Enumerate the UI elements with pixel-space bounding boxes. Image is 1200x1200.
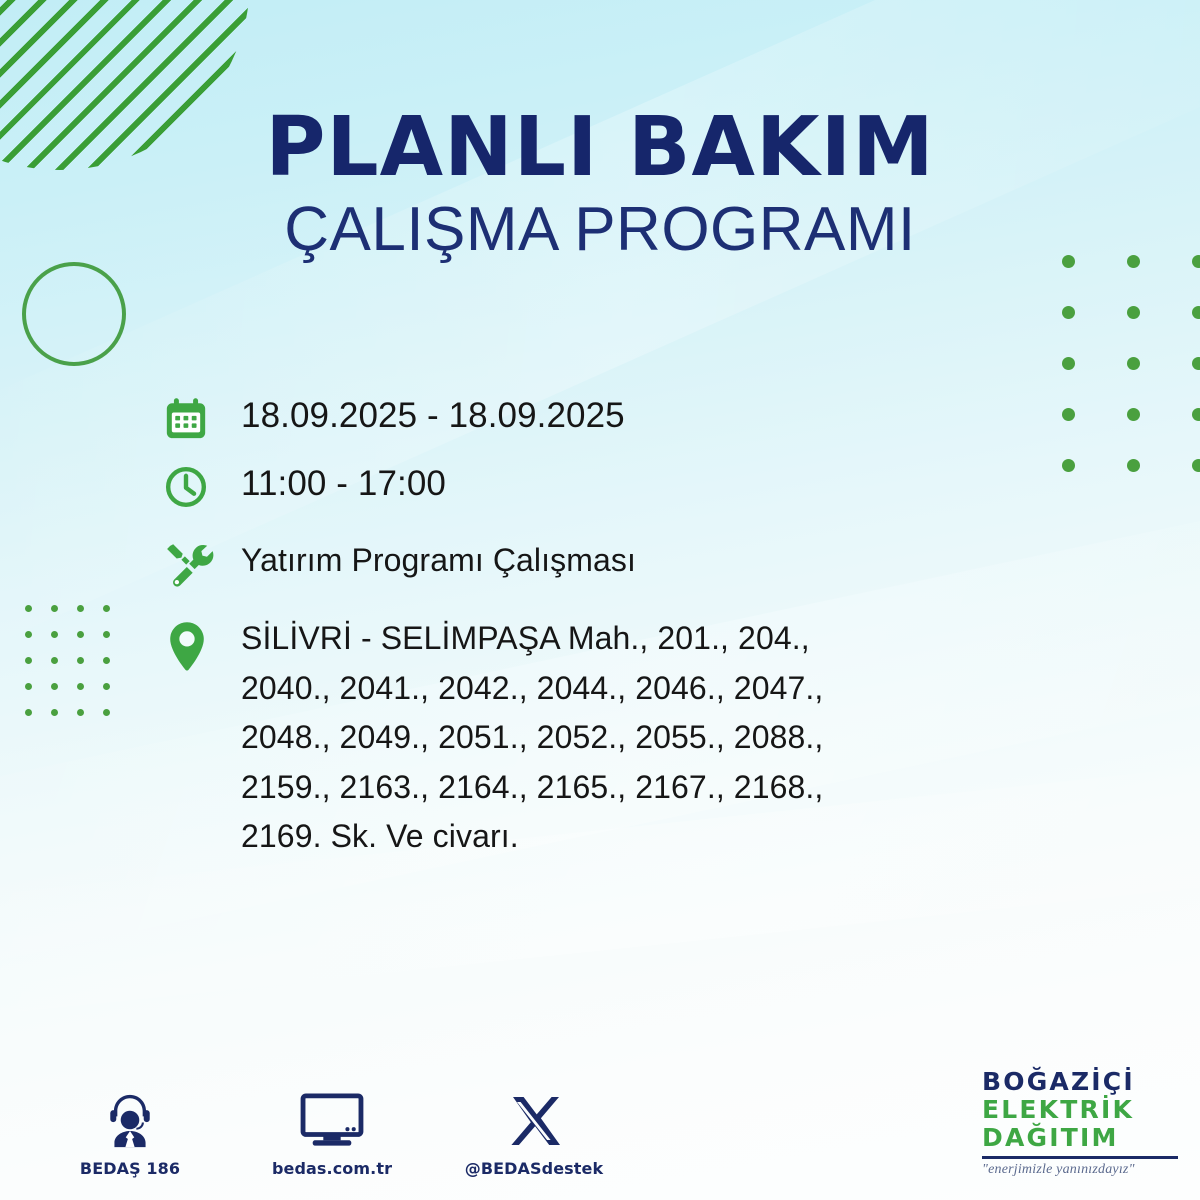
detail-row-time: 11:00 - 17:00 [163, 454, 1003, 518]
circle-outline-decoration [22, 262, 126, 366]
planned-maintenance-poster: PLANLI BAKIM ÇALIŞMA PROGRAMI [0, 0, 1200, 1200]
location-text: SİLİVRİ - SELİMPAŞA Mah., 201., 204., 20… [241, 614, 823, 862]
dot-grid-decoration-left [16, 596, 120, 726]
page-title: PLANLI BAKIM ÇALIŞMA PROGRAMI [0, 108, 1200, 265]
title-subtitle: ÇALIŞMA PROGRAMI [0, 196, 1200, 264]
brand-line-dagitim: DAĞITIM [982, 1124, 1182, 1152]
contact-website-label: bedas.com.tr [262, 1159, 402, 1178]
footer-contacts: BEDAŞ 186 bedas.com.tr @BEDASdestek [60, 1085, 604, 1178]
maintenance-details: 18.09.2025 - 18.09.2025 11:00 - 17:00 [163, 386, 1003, 866]
detail-row-date: 18.09.2025 - 18.09.2025 [163, 386, 1003, 450]
brand-divider [982, 1156, 1178, 1159]
headset-support-icon [60, 1085, 200, 1149]
time-range-text: 11:00 - 17:00 [241, 454, 446, 501]
title-main: PLANLI BAKIM [0, 108, 1200, 188]
monitor-icon [262, 1085, 402, 1149]
location-pin-icon [163, 614, 241, 682]
contact-website[interactable]: bedas.com.tr [262, 1085, 402, 1178]
x-social-icon [464, 1085, 604, 1149]
tools-icon [163, 532, 241, 596]
contact-phone[interactable]: BEDAŞ 186 [60, 1085, 200, 1178]
brand-tagline: "enerjimizle yanınızdayız" [982, 1162, 1182, 1178]
calendar-icon [163, 386, 241, 450]
contact-social[interactable]: @BEDASdestek [464, 1085, 604, 1178]
contact-phone-label: BEDAŞ 186 [60, 1159, 200, 1178]
date-range-text: 18.09.2025 - 18.09.2025 [241, 386, 625, 433]
bedas-logo: BOĞAZİÇİ ELEKTRİK DAĞITIM "enerjimizle y… [982, 1068, 1182, 1178]
detail-row-work-type: Yatırım Programı Çalışması [163, 532, 1003, 596]
brand-line-elektrik: ELEKTRİK [982, 1096, 1182, 1124]
contact-social-label: @BEDASdestek [464, 1159, 604, 1178]
brand-line-bogazici: BOĞAZİÇİ [982, 1068, 1182, 1096]
detail-row-location: SİLİVRİ - SELİMPAŞA Mah., 201., 204., 20… [163, 614, 1003, 862]
work-type-text: Yatırım Programı Çalışması [241, 532, 636, 576]
dot-grid-decoration-right [1036, 236, 1200, 491]
clock-icon [163, 454, 241, 518]
